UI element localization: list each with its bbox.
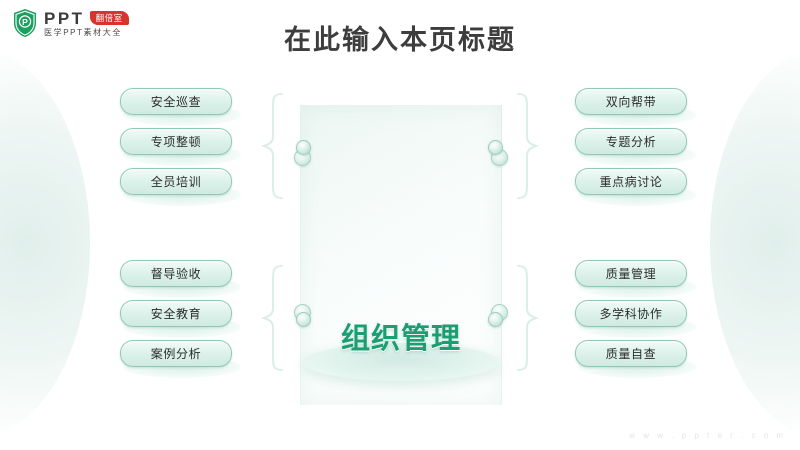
pill-label[interactable]: 案例分析 bbox=[120, 340, 232, 367]
center-label: 组织管理 bbox=[341, 315, 461, 357]
site-watermark: w w w . p p t e r . c o m bbox=[629, 431, 786, 440]
pill-label[interactable]: 双向帮带 bbox=[575, 88, 687, 115]
brace-top-left bbox=[252, 92, 288, 200]
pill-label[interactable]: 质量自查 bbox=[575, 340, 687, 367]
pill-label[interactable]: 安全教育 bbox=[120, 300, 232, 327]
pill-label[interactable]: 督导验收 bbox=[120, 260, 232, 287]
pill-label[interactable]: 重点病讨论 bbox=[575, 168, 687, 195]
connector-dot-bottom-right bbox=[488, 312, 503, 327]
connector-dot-top-left bbox=[296, 140, 311, 155]
pill-label[interactable]: 专题分析 bbox=[575, 128, 687, 155]
background-arc-right bbox=[710, 48, 800, 438]
center-panel: 组织管理 bbox=[300, 105, 502, 405]
connector-dot-top-right bbox=[488, 140, 503, 155]
brace-top-right bbox=[512, 92, 548, 200]
page-title: 在此输入本页标题 bbox=[0, 18, 800, 57]
pill-label[interactable]: 全员培训 bbox=[120, 168, 232, 195]
connector-dot-bottom-left bbox=[296, 312, 311, 327]
pill-label[interactable]: 专项整顿 bbox=[120, 128, 232, 155]
pill-label[interactable]: 质量管理 bbox=[575, 260, 687, 287]
pill-label[interactable]: 多学科协作 bbox=[575, 300, 687, 327]
brace-bottom-right bbox=[512, 264, 548, 372]
center-platform-reflection bbox=[326, 367, 476, 389]
slide-canvas: P PPT 翻倍室 医学PPT素材大全 在此输入本页标题 组织管理 bbox=[0, 0, 800, 450]
pill-label[interactable]: 安全巡查 bbox=[120, 88, 232, 115]
background-arc-left bbox=[0, 48, 90, 438]
brace-bottom-left bbox=[252, 264, 288, 372]
